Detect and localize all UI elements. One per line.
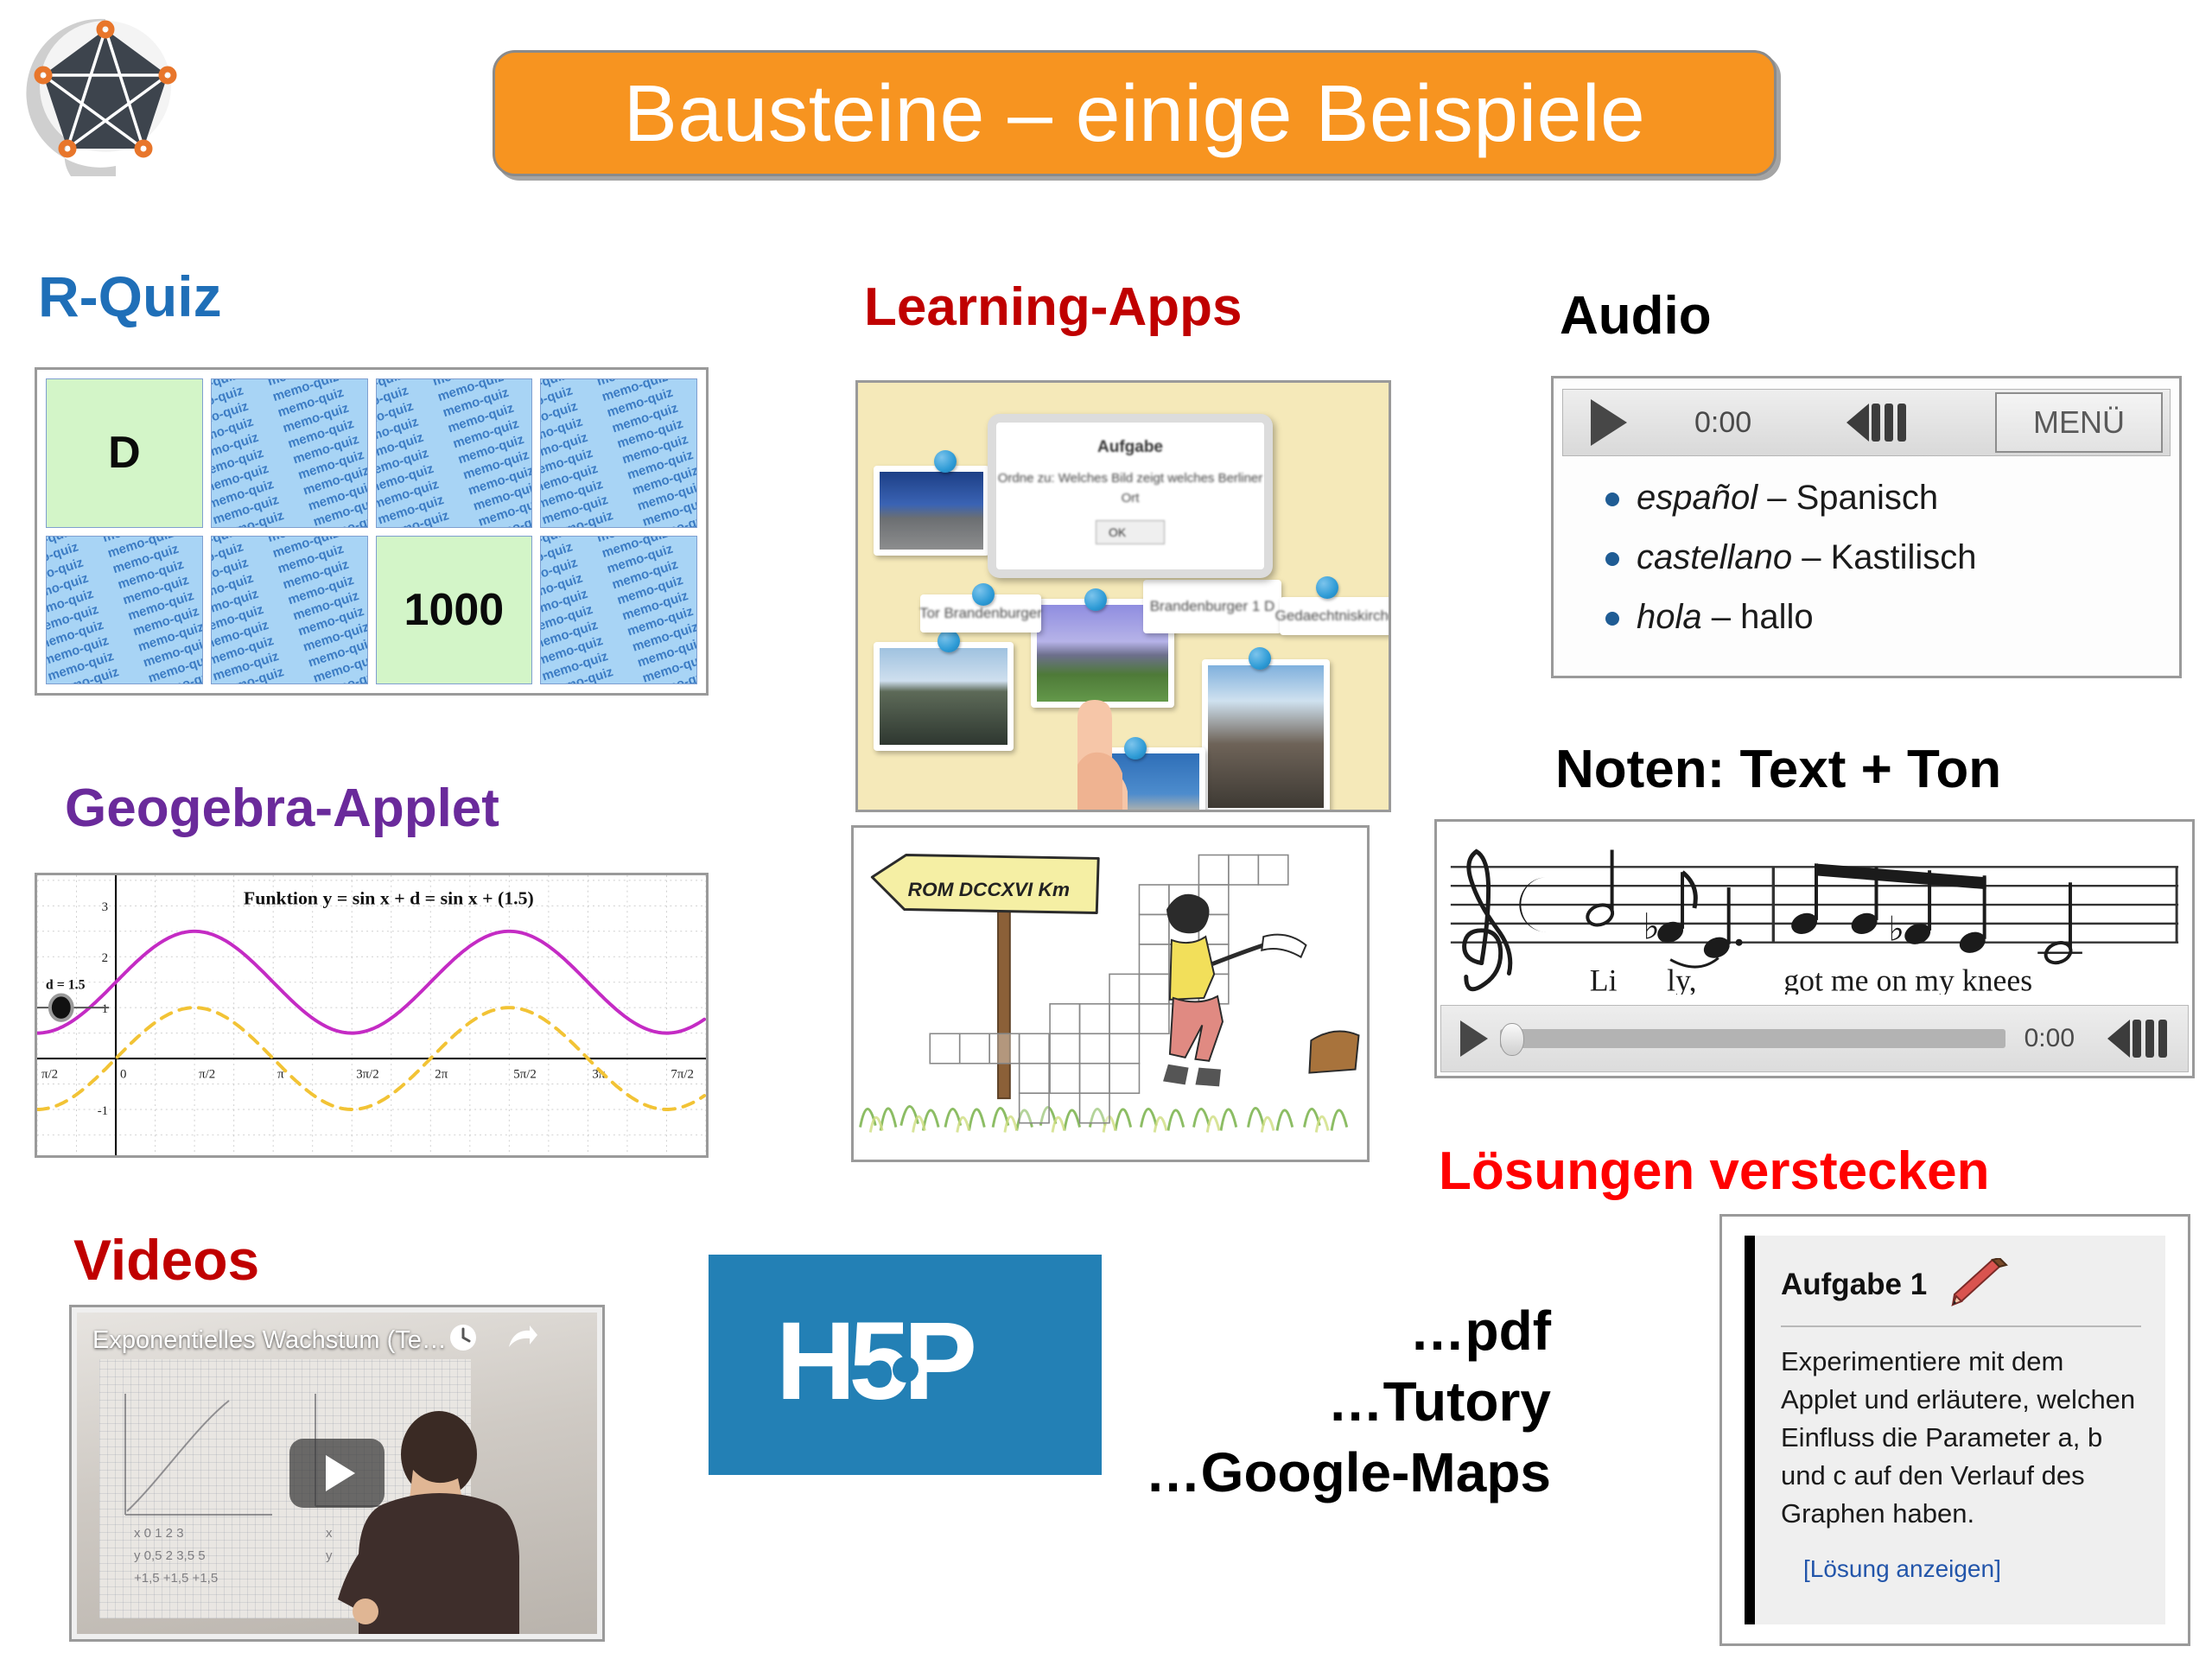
- word-card-label: Tor Brandenburger: [919, 605, 1042, 622]
- section-heading-geogebra: Geogebra-Applet: [65, 782, 499, 836]
- svg-text:7π/2: 7π/2: [671, 1068, 694, 1082]
- memo-card[interactable]: memo-quizmemo-quizmemo-quizmemo-quizmemo…: [211, 536, 368, 685]
- vocab-separator: –: [1792, 538, 1830, 576]
- svg-text:x 0 1 2 3: x 0 1 2 3: [134, 1526, 184, 1541]
- pin-icon: [1316, 576, 1338, 599]
- memo-card[interactable]: memo-quizmemo-quizmemo-quizmemo-quizmemo…: [211, 378, 368, 528]
- section-heading-rquiz: R-Quiz: [38, 268, 222, 325]
- task-body: Experimentiere mit dem Applet und erläut…: [1781, 1343, 2141, 1533]
- learning-apps-screenshot[interactable]: Tor Brandenburger Brandenburger 1 D Geda…: [855, 380, 1391, 812]
- svg-text:1: 1: [102, 1002, 108, 1016]
- memo-pattern: memo-quizmemo-quizmemo-quizmemo-quizmemo…: [540, 536, 697, 685]
- svg-text:5π/2: 5π/2: [513, 1068, 537, 1082]
- svg-text:2π: 2π: [435, 1068, 448, 1082]
- memo-card-label: D: [108, 427, 141, 479]
- memo-card[interactable]: memo-quizmemo-quizmemo-quizmemo-quizmemo…: [376, 378, 533, 528]
- photo-image: [880, 472, 983, 550]
- progress-track[interactable]: [1500, 1029, 2005, 1048]
- slide-title-banner: Bausteine – einige Beispiele: [493, 50, 1777, 176]
- memo-card[interactable]: D: [46, 378, 203, 528]
- function-plot: 321-1π/20π/2π3π/22π5π/23π7π/2d = 1.5Funk…: [37, 875, 706, 1155]
- task-title: Aufgabe 1: [1781, 1268, 1927, 1302]
- vocabulary-item: hola – hallo: [1637, 598, 2179, 637]
- extras-item-tutory: …Tutory: [998, 1367, 1551, 1438]
- pin-icon: [934, 450, 957, 473]
- audio-controls-bar[interactable]: 0:00 MENÜ: [1562, 389, 2171, 456]
- memo-pattern: memo-quizmemo-quizmemo-quizmemo-quizmemo…: [211, 378, 368, 528]
- clock-icon[interactable]: [448, 1323, 478, 1352]
- rquiz-memo-board[interactable]: D memo-quizmemo-quizmemo-quizmemo-quizme…: [35, 367, 709, 696]
- divider: [1781, 1325, 2141, 1327]
- lyric-syllable: ly,: [1667, 963, 1696, 995]
- svg-text:d = 1.5: d = 1.5: [46, 978, 86, 993]
- audio-time: 0:00: [1694, 406, 1751, 440]
- video-thumbnail-panel[interactable]: x 0 1 2 3 y 0,5 2 3,5 5 +1,5 +1,5 +1,5 x…: [69, 1305, 605, 1642]
- play-button[interactable]: [289, 1439, 385, 1508]
- task-dialog[interactable]: Aufgabe Ordne zu: Welches Bild zeigt wel…: [988, 414, 1273, 578]
- memo-card[interactable]: memo-quizmemo-quizmemo-quizmemo-quizmemo…: [540, 536, 697, 685]
- music-staff: ♭ ♭ Li ly, got me on my knees: [1437, 822, 2192, 995]
- vocab-term: castellano: [1637, 538, 1792, 576]
- vocab-term: hola: [1637, 598, 1702, 636]
- memo-pattern: memo-quizmemo-quizmemo-quizmemo-quizmemo…: [540, 378, 697, 528]
- memo-pattern: memo-quizmemo-quizmemo-quizmemo-quizmemo…: [376, 378, 533, 528]
- memo-card[interactable]: 1000: [376, 536, 533, 685]
- section-heading-audio: Audio: [1560, 289, 1712, 343]
- svg-text:+1,5 +1,5 +1,5: +1,5 +1,5 +1,5: [134, 1571, 218, 1586]
- dialog-body: Ordne zu: Welches Bild zeigt welches Ber…: [996, 469, 1264, 508]
- photo-card[interactable]: [874, 642, 1014, 751]
- memo-card[interactable]: memo-quizmemo-quizmemo-quizmemo-quizmemo…: [46, 536, 203, 685]
- sheet-audio-player[interactable]: 0:00: [1440, 1005, 2189, 1072]
- svg-text:3: 3: [102, 900, 108, 914]
- play-icon[interactable]: [1591, 399, 1627, 446]
- section-heading-noten: Noten: Text + Ton: [1555, 743, 2001, 797]
- svg-text:0: 0: [120, 1068, 126, 1082]
- vocab-translation: hallo: [1740, 598, 1814, 636]
- pin-icon: [1249, 647, 1271, 670]
- geogebra-applet[interactable]: 321-1π/20π/2π3π/22π5π/23π7π/2d = 1.5Funk…: [35, 873, 709, 1158]
- dialog-ok-button[interactable]: OK: [1096, 520, 1165, 544]
- section-heading-videos: Videos: [73, 1231, 259, 1288]
- pencil-icon: [1944, 1258, 2012, 1312]
- extras-item-pdf: …pdf: [998, 1296, 1551, 1367]
- signpost-text: ROM DCCXVI Km: [908, 879, 1070, 900]
- crossword-illustration[interactable]: ROM DCCXVI Km: [851, 825, 1370, 1162]
- svg-text:3π/2: 3π/2: [356, 1068, 379, 1082]
- section-heading-loesungen: Lösungen verstecken: [1439, 1145, 1989, 1198]
- svg-text:♭: ♭: [1643, 908, 1660, 948]
- svg-text:π/2: π/2: [41, 1068, 58, 1082]
- pin-icon: [938, 630, 960, 652]
- lyric-syllable: Li: [1590, 963, 1618, 995]
- photo-card[interactable]: [1202, 659, 1330, 812]
- lyric-syllable: got me on my knees: [1783, 963, 2032, 995]
- photo-image: [1208, 665, 1324, 808]
- dialog-title: Aufgabe: [1097, 438, 1163, 457]
- memo-card[interactable]: memo-quizmemo-quizmemo-quizmemo-quizmemo…: [540, 378, 697, 528]
- photo-card[interactable]: [874, 466, 989, 556]
- video-title: Exponentielles Wachstum (Te…: [92, 1326, 447, 1355]
- svg-text:π/2: π/2: [199, 1068, 215, 1082]
- vocab-separator: –: [1702, 598, 1740, 636]
- vocab-separator: –: [1758, 479, 1796, 517]
- svg-text:♭: ♭: [1888, 911, 1904, 949]
- hidden-solution-box[interactable]: Aufgabe 1 Experimentiere mit dem Applet …: [1719, 1214, 2190, 1646]
- memo-pattern: memo-quizmemo-quizmemo-quizmemo-quizmemo…: [211, 536, 368, 685]
- vocab-translation: Spanisch: [1796, 479, 1939, 517]
- crossword-graphic: ROM DCCXVI Km: [854, 828, 1367, 1160]
- word-card[interactable]: Gedaechtniskirche: [1280, 597, 1391, 635]
- pin-icon: [972, 583, 995, 606]
- volume-icon[interactable]: [2107, 1020, 2167, 1058]
- sheet-music-widget[interactable]: ♭ ♭ Li ly, got me on my knees: [1434, 819, 2195, 1078]
- vocab-term: español: [1637, 479, 1758, 517]
- vocabulary-item: castellano – Kastilisch: [1637, 538, 2179, 577]
- word-card-label: Gedaechtniskirche: [1275, 607, 1391, 625]
- extras-list: …pdf …Tutory …Google-Maps: [998, 1296, 1551, 1509]
- menu-button[interactable]: MENÜ: [1995, 392, 2163, 453]
- vocabulary-item: español – Spanisch: [1637, 479, 2179, 518]
- pin-icon: [1084, 588, 1107, 611]
- svg-text:y 0,5 2 3,5 5: y 0,5 2 3,5 5: [134, 1548, 206, 1563]
- section-heading-learning-apps: Learning-Apps: [864, 281, 1242, 334]
- word-card[interactable]: Brandenburger 1 D: [1143, 580, 1281, 633]
- svg-text:2: 2: [102, 951, 108, 965]
- page-title: Bausteine – einige Beispiele: [624, 67, 1646, 160]
- vocab-translation: Kastilisch: [1831, 538, 1977, 576]
- memo-card-label: 1000: [404, 584, 505, 636]
- pointing-finger-icon: [1055, 615, 1138, 810]
- svg-text:Funktion y = sin x + d = sin: Funktion y = sin x + d = sin x + (1.5): [244, 887, 534, 908]
- app-logo: [19, 7, 192, 180]
- svg-text:-1: -1: [98, 1104, 108, 1118]
- extras-item-google-maps: …Google-Maps: [998, 1438, 1551, 1509]
- memo-pattern: memo-quizmemo-quizmemo-quizmemo-quizmemo…: [46, 536, 203, 685]
- volume-icon[interactable]: [1847, 404, 1906, 442]
- share-icon[interactable]: [507, 1325, 538, 1351]
- progress-knob[interactable]: [1500, 1023, 1524, 1056]
- video-player[interactable]: x 0 1 2 3 y 0,5 2 3,5 5 +1,5 +1,5 +1,5 x…: [77, 1313, 597, 1634]
- show-solution-link[interactable]: [Lösung anzeigen]: [1803, 1555, 2141, 1583]
- vocabulary-list: español – Spanisch castellano – Kastilis…: [1602, 479, 2179, 637]
- play-icon[interactable]: [1460, 1020, 1488, 1057]
- word-card-label: Brandenburger 1 D: [1150, 598, 1275, 615]
- audio-time: 0:00: [2024, 1024, 2075, 1053]
- audio-widget[interactable]: 0:00 MENÜ español – Spanisch castellano …: [1551, 376, 2182, 678]
- photo-image: [880, 648, 1007, 745]
- svg-text:H5P: H5P: [776, 1309, 974, 1421]
